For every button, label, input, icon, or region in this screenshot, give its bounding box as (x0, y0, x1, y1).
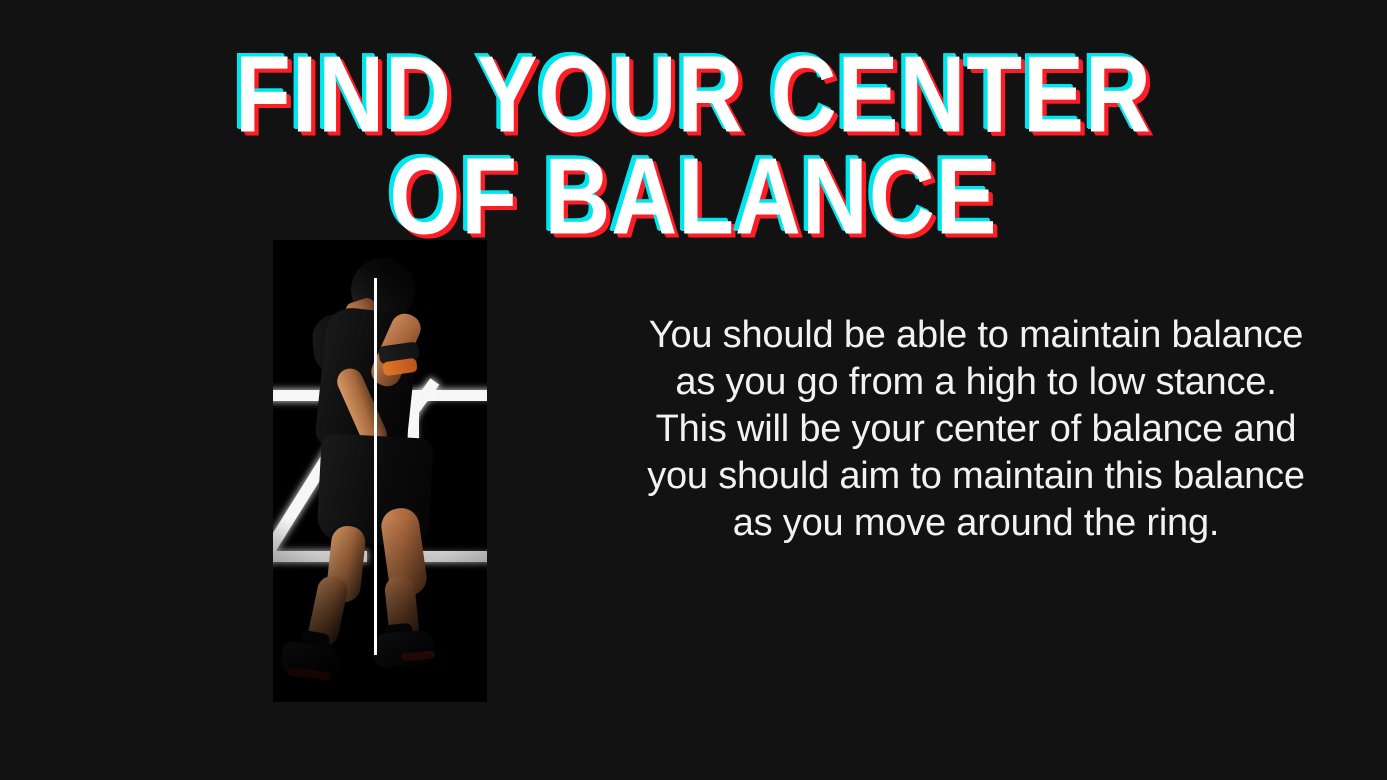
body-line-1: You should be able to maintain balance (646, 312, 1306, 359)
body-line-3: This will be your center of balance and (646, 406, 1306, 453)
boxer-shoe-right (372, 629, 437, 668)
title-line-2: OF BALANCE (0, 148, 1387, 246)
body-line-5: as you move around the ring. (646, 500, 1306, 547)
boxer-figure (273, 240, 487, 702)
body-line-2: as you go from a high to low stance. (646, 359, 1306, 406)
body-copy: You should be able to maintain balance a… (646, 312, 1306, 547)
title-line-1: FIND YOUR CENTER (0, 46, 1387, 144)
slide-canvas: FIND YOUR CENTER OF BALANCE (0, 0, 1387, 780)
photo-inner (273, 240, 487, 702)
center-of-balance-line (374, 278, 377, 655)
slide-title: FIND YOUR CENTER OF BALANCE (0, 46, 1387, 226)
body-line-4: you should aim to maintain this balance (646, 453, 1306, 500)
boxer-photo (273, 240, 487, 702)
